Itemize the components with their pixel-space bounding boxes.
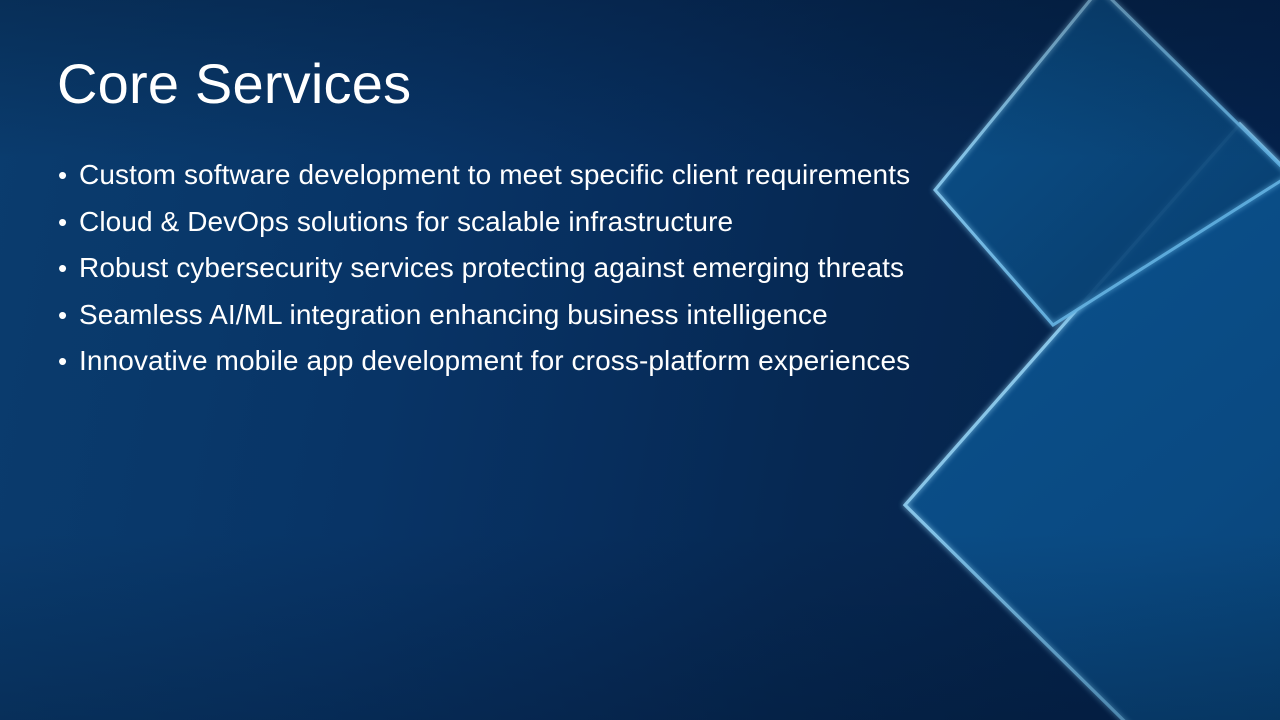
slide-content: Core Services • Custom software developm… [0,0,1280,720]
bullet-text-2: Cloud & DevOps solutions for scalable in… [79,206,733,237]
bullet-item-4: • Seamless AI/ML integration enhancing b… [57,292,1177,339]
bullet-text-3: Robust cybersecurity services protecting… [79,252,904,283]
bullet-text-4: Seamless AI/ML integration enhancing bus… [79,299,828,330]
bullet-list: • Custom software development to meet sp… [57,152,1177,385]
bullet-dot-icon: • [58,152,80,199]
bullet-dot-icon: • [58,245,80,292]
bullet-item-5: • Innovative mobile app development for … [57,338,1177,385]
bullet-item-2: • Cloud & DevOps solutions for scalable … [57,199,1177,246]
bullet-dot-icon: • [58,338,80,385]
slide-title: Core Services [57,52,411,116]
bullet-text-1: Custom software development to meet spec… [79,159,910,190]
presentation-slide: Core Services • Custom software developm… [0,0,1280,720]
bullet-text-5: Innovative mobile app development for cr… [79,345,910,376]
bullet-item-1: • Custom software development to meet sp… [57,152,1177,199]
bullet-dot-icon: • [58,292,80,339]
bullet-item-3: • Robust cybersecurity services protecti… [57,245,1177,292]
bullet-dot-icon: • [58,199,80,246]
